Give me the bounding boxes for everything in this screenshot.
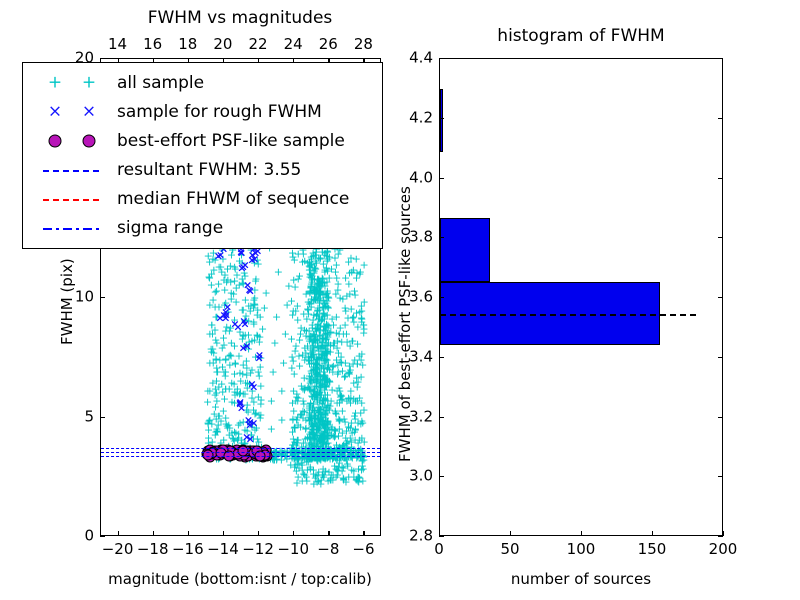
scatter-point: + [235,389,244,400]
scatter-point: + [221,412,230,423]
scatter-point: + [316,375,325,386]
scatter-point: + [337,352,346,363]
scatter-point: + [289,306,298,317]
scatter-point: + [247,430,256,441]
scatter-point: + [212,285,221,296]
scatter-point: + [312,452,321,463]
scatter-point: + [314,253,323,264]
scatter-point: + [297,323,306,334]
scatter-point: + [224,350,233,361]
scatter-point: + [214,278,223,289]
scatter-point: + [237,435,246,446]
x-tick-label-top: 14 [108,37,127,52]
scatter-point: + [306,281,315,292]
scatter-point: + [326,339,335,350]
scatter-point: + [307,410,316,421]
scatter-point: + [320,452,329,463]
scatter-point: + [293,458,302,469]
scatter-point: + [315,453,324,464]
scatter-point: + [311,293,320,304]
scatter-point: + [301,444,310,455]
scatter-point: + [323,395,332,406]
scatter-point: + [219,340,228,351]
scatter-point: + [310,287,319,298]
legend-entry[interactable]: sigma range [29,214,377,242]
scatter-point: + [242,362,251,373]
scatter-point: + [238,257,247,268]
scatter-point: + [320,370,329,381]
scatter-point: + [315,453,324,464]
scatter-point: + [308,422,317,433]
scatter-point: × [219,309,228,320]
scatter-point: + [288,453,297,464]
scatter-point: + [325,327,334,338]
scatter-point: + [308,420,317,431]
scatter-point: + [291,448,300,459]
scatter-point: + [260,449,269,460]
scatter-point: + [311,390,320,401]
scatter-point: + [341,433,350,444]
scatter-point: + [318,444,327,455]
scatter-point: + [314,445,323,456]
scatter-point: + [209,348,218,359]
scatter-point: + [245,379,254,390]
scatter-point: + [272,453,281,464]
scatter-point: + [242,405,251,416]
scatter-point: + [315,425,324,436]
scatter-point: + [315,305,324,316]
scatter-point: + [317,314,326,325]
scatter-point [241,445,252,456]
scatter-point: + [321,356,330,367]
scatter-point: + [305,453,314,464]
scatter-point: + [227,427,236,438]
scatter-point: + [306,398,315,409]
scatter-point: + [318,437,327,448]
scatter-point: + [323,256,332,267]
scatter-point: + [314,415,323,426]
scatter-point: + [291,459,300,470]
scatter-point: + [315,394,324,405]
scatter-point: + [339,453,348,464]
scatter-point: + [339,475,348,486]
histogram-plot-area [440,59,722,535]
scatter-point: + [323,288,332,299]
scatter-point: + [221,384,230,395]
scatter-point: + [331,405,340,416]
scatter-point: × [230,318,239,329]
scatter-point: + [226,351,235,362]
scatter-point: + [307,428,316,439]
scatter-point: + [292,444,301,455]
scatter-point: + [320,311,329,322]
scatter-point: + [305,268,314,279]
scatter-point: + [236,376,245,387]
scatter-point: + [252,329,261,340]
scatter-point: + [319,452,328,463]
scatter-point: + [357,301,366,312]
scatter-point: + [328,470,337,481]
scatter-point: + [305,272,314,283]
scatter-point: + [315,436,324,447]
scatter-point: + [311,370,320,381]
scatter-point: + [346,397,355,408]
scatter-point: + [316,392,325,403]
scatter-point: + [335,449,344,460]
scatter-point: + [320,267,329,278]
scatter-point: + [317,352,326,363]
scatter-point [253,449,264,460]
scatter-point: + [221,326,230,337]
scatter-point: + [307,279,316,290]
scatter-point: + [319,472,328,483]
scatter-point: + [221,353,230,364]
scatter-point: + [306,375,315,386]
scatter-point: + [216,415,225,426]
scatter-point: + [357,312,366,323]
scatter-point: + [221,297,230,308]
scatter-point: + [230,436,239,447]
scatter-point: + [317,361,326,372]
scatter-point: + [300,343,309,354]
scatter-point: + [323,452,332,463]
scatter-point: + [309,421,318,432]
scatter-point: + [335,292,344,303]
scatter-point: + [211,354,220,365]
scatter-point: + [354,463,363,474]
scatter-point: + [335,386,344,397]
scatter-point: + [321,445,330,456]
scatter-point: + [307,272,316,283]
scatter-point: + [312,359,321,370]
scatter-point: + [309,441,318,452]
scatter-point: + [349,378,358,389]
scatter-point: + [220,285,229,296]
legend-entry[interactable]: ××sample for rough FWHM [29,98,377,126]
scatter-point: + [333,342,342,353]
scatter-point: + [324,360,333,371]
scatter-point: + [204,271,213,282]
scatter-point [237,445,248,456]
scatter-point: + [336,392,345,403]
scatter-point: + [322,276,331,287]
scatter-point: + [318,416,327,427]
scatter-point: + [304,304,313,315]
scatter-point: × [240,319,249,330]
scatter-point: + [254,367,263,378]
scatter-point: + [205,257,214,268]
scatter-point: + [231,358,240,369]
scatter-point: + [356,452,365,463]
scatter-point: + [232,283,241,294]
scatter-point: × [250,253,259,264]
x-tick-label-top: 16 [143,37,162,52]
scatter-point: + [284,281,293,292]
scatter-point: + [309,335,318,346]
scatter-point: + [237,249,246,260]
scatter-point: + [305,325,314,336]
scatter-point: + [350,354,359,365]
scatter-point: + [318,349,327,360]
scatter-point: + [266,453,275,464]
scatter-point: + [305,401,314,412]
scatter-point: + [312,436,321,447]
scatter-point: + [288,415,297,426]
scatter-point: + [306,283,315,294]
scatter-point: + [347,267,356,278]
scatter-point: + [233,383,242,394]
scatter-point: + [320,421,329,432]
scatter-point: + [347,436,356,447]
scatter-point: + [299,309,308,320]
scatter-point: + [236,452,245,463]
scatter-point: + [307,452,316,463]
scatter-point: + [315,453,324,464]
scatter-point: + [318,350,327,361]
scatter-point: + [277,414,286,425]
scatter-point: + [320,434,329,445]
scatter-point: + [256,410,265,421]
scatter-point: + [253,254,262,265]
scatter-point: + [312,323,321,334]
scatter-point: + [244,300,253,311]
scatter-point: + [315,416,324,427]
scatter-point: + [311,367,320,378]
scatter-point: + [220,394,229,405]
scatter-point: + [322,452,331,463]
scatter-point: + [322,428,331,439]
scatter-point: + [339,473,348,484]
scatter-point: + [305,408,314,419]
scatter-point: + [308,347,317,358]
scatter-point: + [234,350,243,361]
scatter-point: + [312,421,321,432]
x-tick-label-bottom: −8 [317,542,339,557]
scatter-point: + [335,452,344,463]
scatter-point: + [244,343,253,354]
scatter-point: + [324,403,333,414]
scatter-point: + [290,462,299,473]
scatter-point: + [319,429,328,440]
scatter-point: + [305,403,314,414]
x-tick-label-top: 24 [284,37,303,52]
reference-line [101,448,380,449]
scatter-point: + [220,270,229,281]
dashed-line [43,199,99,201]
scatter-point: + [318,418,327,429]
scatter-point: + [316,287,325,298]
scatter-point [238,445,249,456]
scatter-point: + [313,453,322,464]
scatter-point: + [297,380,306,391]
scatter-point: + [319,350,328,361]
scatter-point: + [306,401,315,412]
scatter-point: + [319,419,328,430]
scatter-point: + [320,367,329,378]
scatter-point: + [342,425,351,436]
scatter-point: × [245,420,254,431]
scatter-point: + [359,327,368,338]
scatter-point: + [207,418,216,429]
scatter-point: + [272,312,281,323]
histogram-bar [440,282,660,345]
scatter-point: + [306,445,315,456]
scatter-point: × [223,301,232,312]
scatter-point: + [324,401,333,412]
scatter-point: + [335,329,344,340]
scatter-point: + [292,392,301,403]
scatter-point: + [225,384,234,395]
scatter-point: + [246,453,255,464]
plus-marker: + [48,75,62,92]
scatter-point: + [349,393,358,404]
scatter-point: + [267,395,276,406]
scatter-point: + [230,340,239,351]
legend-entry[interactable]: ++all sample [29,69,377,97]
legend-entry[interactable]: best-effort PSF-like sample [29,127,377,155]
scatter-point: + [227,294,236,305]
scatter-point: + [342,290,351,301]
scatter-point: + [313,319,322,330]
scatter-point: + [319,393,328,404]
legend-marker-plus-marker: ++ [29,69,117,97]
scatter-point: + [336,395,345,406]
scatter-point: + [348,313,357,324]
scatter-point: + [313,303,322,314]
scatter-point: + [315,380,324,391]
scatter-point: + [249,318,258,329]
scatter-point: + [316,282,325,293]
scatter-point: + [289,433,298,444]
scatter-point: + [320,452,329,463]
scatter-point: + [354,476,363,487]
scatter-point: + [315,313,324,324]
scatter-point: + [229,434,238,445]
scatter-point: + [268,453,277,464]
scatter-point: + [313,456,322,467]
scatter-point: + [307,366,316,377]
scatter-point: + [232,297,241,308]
scatter-point: + [293,395,302,406]
scatter-point: + [313,389,322,400]
scatter-point: + [226,448,235,459]
scatter-point: + [317,278,326,289]
scatter-point: + [358,456,367,467]
scatter-point: + [247,429,256,440]
scatter-point: + [344,421,353,432]
scatter-point: + [325,252,334,263]
scatter-point: + [318,313,327,324]
scatter-point: + [215,355,224,366]
scatter-point: + [312,389,321,400]
scatter-point: + [306,463,315,474]
scatter-point: + [310,372,319,383]
scatter-point: + [309,364,318,375]
scatter-point: + [334,413,343,424]
scatter-point: + [323,427,332,438]
scatter-point: + [316,384,325,395]
scatter-point: + [325,364,334,375]
x-tick-bottom [363,531,364,536]
scatter-point: + [206,445,215,456]
scatter-point: + [316,315,325,326]
scatter-point: + [346,448,355,459]
scatter-point: + [316,293,325,304]
scatter-point: + [310,448,319,459]
scatter-point: + [311,472,320,483]
scatter-point: + [305,287,314,298]
scatter-point: + [309,362,318,373]
scatter-point: + [307,422,316,433]
scatter-point: + [314,402,323,413]
scatter-point: + [209,265,218,276]
scatter-point: + [320,380,329,391]
scatter-point: + [321,324,330,335]
scatter-point: + [321,452,330,463]
x-tick-label-hist: 200 [709,542,738,557]
scatter-point: + [302,326,311,337]
x-tick-bottom [118,531,119,536]
scatter-point: + [341,445,350,456]
scatter-point: + [248,385,257,396]
scatter-point: + [345,289,354,300]
scatter-point: + [331,267,340,278]
scatter-point: + [208,377,217,388]
scatter-point: + [326,475,335,486]
scatter-point: + [310,262,319,273]
scatter-point: + [296,422,305,433]
scatter-point: + [315,298,324,309]
scatter-point: + [356,418,365,429]
scatter-point: + [321,347,330,358]
legend-entry[interactable]: median FHWM of sequence [29,185,377,213]
scatter-point: + [321,413,330,424]
scatter-point: + [311,362,320,373]
scatter-point: + [312,375,321,386]
scatter-point: + [338,427,347,438]
scatter-point: + [240,452,249,463]
scatter-point [232,445,243,456]
scatter-point: + [318,449,327,460]
y-tick-left [100,536,105,537]
scatter-point: + [312,425,321,436]
scatter-point: + [320,432,329,443]
scatter-point: + [312,354,321,365]
scatter-point: + [314,314,323,325]
scatter-point: + [305,286,314,297]
scatter-point: + [352,268,361,279]
scatter-point: + [301,414,310,425]
x-marker: × [82,104,96,121]
scatter-point: + [321,406,330,417]
scatter-point: + [277,386,286,397]
x-tick-label-hist: 0 [434,542,444,557]
scatter-point: + [233,388,242,399]
scatter-point: + [206,344,215,355]
scatter-point: + [315,452,324,463]
scatter-point: + [225,326,234,337]
scatter-point: + [316,379,325,390]
scatter-point: + [256,352,265,363]
y-tick-hist [439,118,444,119]
scatter-point: + [319,309,328,320]
scatter-point: + [344,257,353,268]
legend-entry[interactable]: resultant FWHM: 3.55 [29,156,377,184]
scatter-point: + [249,396,258,407]
scatter-point: + [243,425,252,436]
scatter-point: + [319,411,328,422]
scatter-point: + [323,418,332,429]
